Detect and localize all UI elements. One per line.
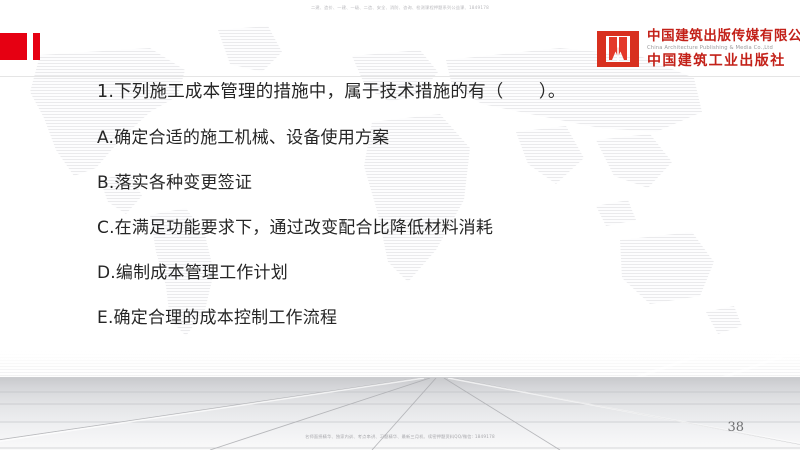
red-accent-block-small — [33, 33, 40, 60]
red-accent-block-large — [0, 33, 27, 60]
option-c[interactable]: C.在满足功能要求下，通过改变配合比降低材料消耗 — [97, 220, 757, 237]
publisher-company-name-en: China Architecture Publishing & Media Co… — [647, 46, 800, 51]
option-b[interactable]: B.落实各种变更签证 — [97, 175, 757, 192]
open-book-building-mark-icon — [596, 28, 640, 70]
publisher-company-name-cn: 中国建筑出版传媒有限公司 — [647, 30, 800, 44]
page-number: 38 — [727, 420, 744, 435]
question-stem: 1.下列施工成本管理的措施中，属于技术措施的有（ ）。 — [97, 84, 757, 102]
presentation-slide: 二建、造价、一建、一级、二造、安全、消防、咨询、检测课程押题系列公益课、1849… — [0, 0, 800, 450]
option-e[interactable]: E.确定合理的成本控制工作流程 — [97, 310, 757, 327]
footer-micro-text: 名师面授精华、独家内训、考点串讲、习题精华、最新三月机、续密押题资料QQ/微信:… — [0, 434, 800, 440]
publisher-logo: 中国建筑出版传媒有限公司 China Architecture Publishi… — [596, 24, 796, 74]
option-a[interactable]: A.确定合适的施工机械、设备使用方案 — [97, 130, 757, 147]
header-micro-text: 二建、造价、一建、一级、二造、安全、消防、咨询、检测课程押题系列公益课、1849… — [0, 5, 800, 11]
publisher-imprint-name-cn: 中国建筑工业出版社 — [647, 54, 800, 68]
header-divider — [0, 76, 800, 77]
question-content: 1.下列施工成本管理的措施中，属于技术措施的有（ ）。 A.确定合适的施工机械、… — [97, 84, 757, 327]
option-d[interactable]: D.编制成本管理工作计划 — [97, 265, 757, 282]
publisher-logo-text: 中国建筑出版传媒有限公司 China Architecture Publishi… — [647, 30, 800, 68]
